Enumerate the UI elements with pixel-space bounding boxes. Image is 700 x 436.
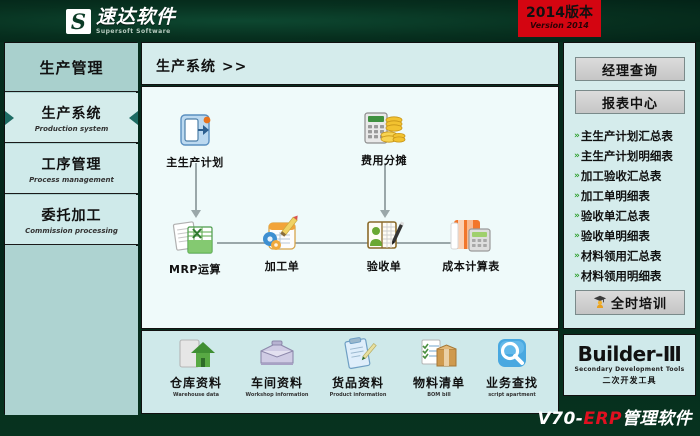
sidebar-item-label-en: Process management bbox=[29, 176, 114, 184]
report-link-label: 验收单汇总表 bbox=[581, 208, 650, 224]
footer-prefix: V70- bbox=[537, 409, 583, 429]
footer-suffix: 管理软件 bbox=[622, 409, 692, 429]
chevron-right-icon: » bbox=[574, 271, 578, 281]
selection-arrow-right-icon bbox=[129, 111, 138, 125]
quick-link-product-information[interactable]: 货品资料 Product information bbox=[316, 337, 400, 398]
logo-text: 速达软件 Supersoft Software bbox=[96, 8, 176, 35]
footer-accent: ERP bbox=[583, 409, 622, 429]
quick-link-sublabel: BOM bill bbox=[397, 392, 481, 398]
clipboard-icon bbox=[339, 337, 377, 371]
report-link-acceptance-detail[interactable]: » 验收单明细表 bbox=[574, 226, 694, 246]
quick-link-sublabel: Product information bbox=[316, 392, 400, 398]
sidebar-item-label-cn: 工序管理 bbox=[42, 154, 102, 174]
logo-mark-letter: S bbox=[66, 9, 91, 34]
manager-query-button[interactable]: 经理查询 bbox=[575, 57, 685, 81]
chevron-right-icon: » bbox=[574, 151, 578, 161]
flow-node-label: 加工单 bbox=[239, 258, 325, 274]
version-badge-en: Version 2014 bbox=[530, 22, 589, 30]
spreadsheet-icon bbox=[172, 218, 218, 260]
report-link-mps-summary[interactable]: » 主生产计划汇总表 bbox=[574, 126, 694, 146]
chevron-right-icon: » bbox=[574, 131, 578, 141]
warehouse-icon bbox=[177, 337, 215, 371]
quick-link-sublabel: script apartment bbox=[470, 392, 554, 398]
quick-link-label: 仓库资料 bbox=[154, 374, 238, 391]
chevron-right-icon: » bbox=[574, 191, 578, 201]
brand-logo: S 速达软件 Supersoft Software bbox=[66, 5, 176, 37]
work-order-icon bbox=[259, 215, 305, 257]
version-badge: 2014版本 Version 2014 bbox=[518, 0, 601, 37]
sidebar-item-production-system[interactable]: 生产系统 Production system bbox=[5, 93, 138, 143]
flow-node-cost-allocation[interactable]: 费用分摊 bbox=[341, 109, 427, 168]
report-link-material-usage-detail[interactable]: » 材料领用明细表 bbox=[574, 266, 694, 286]
page-title: 生产系统 >> bbox=[156, 56, 247, 76]
report-link-label: 主生产计划汇总表 bbox=[581, 128, 673, 144]
quick-links-panel: 仓库资料 Warehouse data 车间资料 Workshop inform… bbox=[141, 330, 559, 414]
document-export-icon bbox=[172, 111, 218, 153]
sidebar-title-label: 生产管理 bbox=[39, 57, 103, 78]
report-link-label: 材料领用明细表 bbox=[581, 268, 662, 284]
logo-mark-icon: S bbox=[66, 9, 91, 34]
report-link-label: 加工验收汇总表 bbox=[581, 168, 662, 184]
report-link-label: 加工单明细表 bbox=[581, 188, 650, 204]
graduate-icon bbox=[593, 294, 607, 312]
quick-link-workshop-information[interactable]: 车间资料 Workshop information bbox=[235, 337, 319, 398]
sidebar-item-label-cn: 生产系统 bbox=[42, 103, 102, 123]
sidebar-item-process-management[interactable]: 工序管理 Process management bbox=[5, 144, 138, 194]
report-link-mps-detail[interactable]: » 主生产计划明细表 bbox=[574, 146, 694, 166]
calculator-coins-icon bbox=[361, 109, 407, 151]
app-header: S 速达软件 Supersoft Software 2014版本 Version… bbox=[0, 0, 700, 42]
footer-product-title: V70-ERP管理软件 bbox=[420, 404, 692, 429]
quick-link-sublabel: Warehouse data bbox=[154, 392, 238, 398]
report-link-processing-acceptance-summary[interactable]: » 加工验收汇总表 bbox=[574, 166, 694, 186]
chevron-right-icon: » bbox=[574, 171, 578, 181]
sidebar-empty-area bbox=[5, 246, 138, 415]
flow-node-label: 成本计算表 bbox=[428, 258, 514, 274]
connector-cost-to-acceptance bbox=[384, 163, 386, 211]
report-center-button[interactable]: 报表中心 bbox=[575, 90, 685, 114]
version-badge-cn: 2014版本 bbox=[526, 6, 593, 21]
chevron-right-icon: » bbox=[574, 251, 578, 261]
flow-diagram-panel: 主生产计划 bbox=[141, 86, 559, 329]
sidebar-item-label-en: Production system bbox=[35, 125, 109, 133]
logo-name-cn: 速达软件 bbox=[96, 8, 176, 27]
flow-node-work-order[interactable]: 加工单 bbox=[239, 215, 325, 274]
flow-node-master-production-plan[interactable]: 主生产计划 bbox=[152, 111, 238, 170]
logo-name-en: Supersoft Software bbox=[96, 29, 176, 35]
sidebar-item-label-cn: 委托加工 bbox=[42, 205, 102, 225]
quick-link-sublabel: Workshop information bbox=[235, 392, 319, 398]
flow-node-cost-calculation-report[interactable]: 成本计算表 bbox=[428, 215, 514, 274]
report-link-label: 材料领用汇总表 bbox=[581, 248, 662, 264]
report-link-work-order-detail[interactable]: » 加工单明细表 bbox=[574, 186, 694, 206]
content-title-bar: 生产系统 >> bbox=[141, 42, 559, 85]
right-panel: 经理查询 报表中心 » 主生产计划汇总表 » 主生产计划明细表 » 加工验收汇总… bbox=[563, 42, 696, 329]
chevron-right-icon: » bbox=[574, 231, 578, 241]
report-link-acceptance-summary[interactable]: » 验收单汇总表 bbox=[574, 206, 694, 226]
builder-sub-en: Secondary Development Tools bbox=[575, 366, 685, 373]
full-time-training-label: 全时培训 bbox=[611, 293, 667, 312]
acceptance-note-icon bbox=[361, 215, 407, 257]
bom-box-icon bbox=[420, 337, 458, 371]
flow-node-label: 费用分摊 bbox=[341, 152, 427, 168]
flow-node-label: 主生产计划 bbox=[152, 154, 238, 170]
report-link-material-usage-summary[interactable]: » 材料领用汇总表 bbox=[574, 246, 694, 266]
quick-link-label: 业务查找 bbox=[470, 374, 554, 391]
quick-link-bom[interactable]: 物料清单 BOM bill bbox=[397, 337, 481, 398]
quick-link-label: 货品资料 bbox=[316, 374, 400, 391]
quick-link-warehouse-data[interactable]: 仓库资料 Warehouse data bbox=[154, 337, 238, 398]
flow-node-mrp-calculation[interactable]: MRP运算 bbox=[152, 218, 238, 277]
flow-node-label: 验收单 bbox=[341, 258, 427, 274]
flow-node-acceptance-note[interactable]: 验收单 bbox=[341, 215, 427, 274]
cost-report-icon bbox=[448, 215, 494, 257]
sidebar-title: 生产管理 bbox=[5, 43, 138, 92]
report-link-label: 验收单明细表 bbox=[581, 228, 650, 244]
builder-sub-cn: 二次开发工具 bbox=[603, 375, 657, 386]
sidebar-item-label-en: Commission processing bbox=[25, 227, 118, 235]
quick-link-label: 车间资料 bbox=[235, 374, 319, 391]
builder-name: Builder-Ⅲ bbox=[578, 344, 682, 364]
chevron-right-icon: » bbox=[574, 211, 578, 221]
selection-arrow-left-icon bbox=[5, 111, 14, 125]
full-time-training-button[interactable]: 全时培训 bbox=[575, 290, 685, 315]
quick-link-label: 物料清单 bbox=[397, 374, 481, 391]
flow-node-label: MRP运算 bbox=[152, 261, 238, 277]
builder-panel[interactable]: Builder-Ⅲ Secondary Development Tools 二次… bbox=[563, 334, 696, 396]
sidebar: 生产管理 生产系统 Production system 工序管理 Process… bbox=[4, 42, 137, 414]
connector-mps-to-mrp bbox=[195, 163, 197, 211]
magnifier-icon bbox=[493, 337, 531, 371]
quick-link-business-search[interactable]: 业务查找 script apartment bbox=[470, 337, 554, 398]
arrowhead-mps-to-mrp-icon bbox=[191, 210, 201, 218]
briefcase-icon bbox=[258, 337, 296, 371]
sidebar-item-commission-processing[interactable]: 委托加工 Commission processing bbox=[5, 195, 138, 245]
report-list: » 主生产计划汇总表 » 主生产计划明细表 » 加工验收汇总表 » 加工单明细表… bbox=[574, 126, 694, 286]
report-link-label: 主生产计划明细表 bbox=[581, 148, 673, 164]
